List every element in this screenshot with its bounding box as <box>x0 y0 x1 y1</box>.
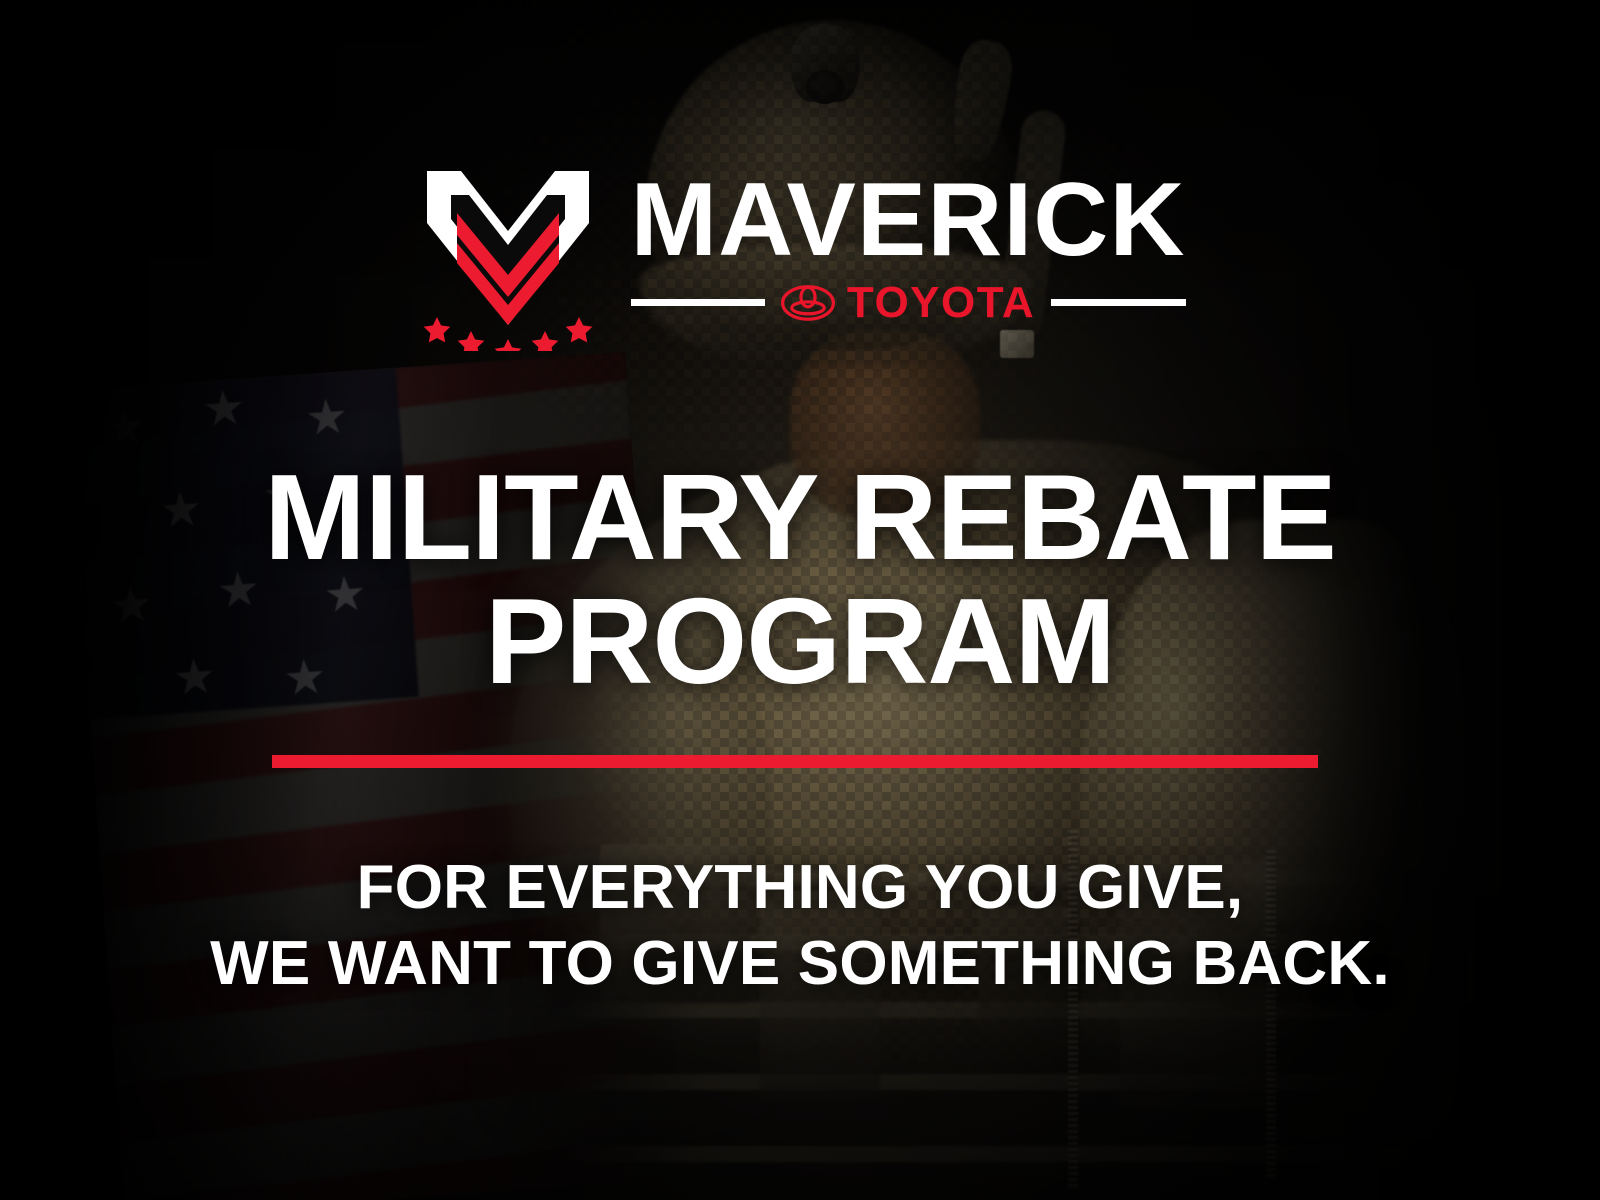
toyota-ellipses-logo-icon <box>781 284 835 322</box>
brand-wordmark-block: MAVERICK TOYOTA <box>631 165 1186 325</box>
poster-content: MAVERICK TOYOTA MILITARY <box>0 0 1600 1200</box>
headline-line-1: MILITARY REBATE <box>264 449 1336 585</box>
badge-rule-right <box>1051 299 1185 306</box>
brand-name: MAVERICK <box>631 173 1186 269</box>
badge-rule-left <box>631 299 765 306</box>
tagline-line-2: WE WANT TO GIVE SOMETHING BACK. <box>0 926 1600 1002</box>
toyota-lockup: TOYOTA <box>781 281 1035 325</box>
tagline-line-1: FOR EVERYTHING YOU GIVE, <box>357 853 1244 922</box>
military-rebate-poster: ★ ★ ★ ★ ★ ★ ★ ★ ★ ★ <box>0 0 1600 1200</box>
headline-line-2: PROGRAM <box>0 579 1600 703</box>
toyota-wordmark: TOYOTA <box>847 281 1035 325</box>
tagline: FOR EVERYTHING YOU GIVE, WE WANT TO GIVE… <box>0 850 1600 1001</box>
page-title: MILITARY REBATE PROGRAM <box>0 455 1600 704</box>
maverick-chevron-emblem-icon <box>415 165 601 351</box>
brand-lockup: MAVERICK TOYOTA <box>0 165 1600 351</box>
red-divider-rule <box>272 755 1318 768</box>
toyota-badge-row: TOYOTA <box>631 281 1186 325</box>
